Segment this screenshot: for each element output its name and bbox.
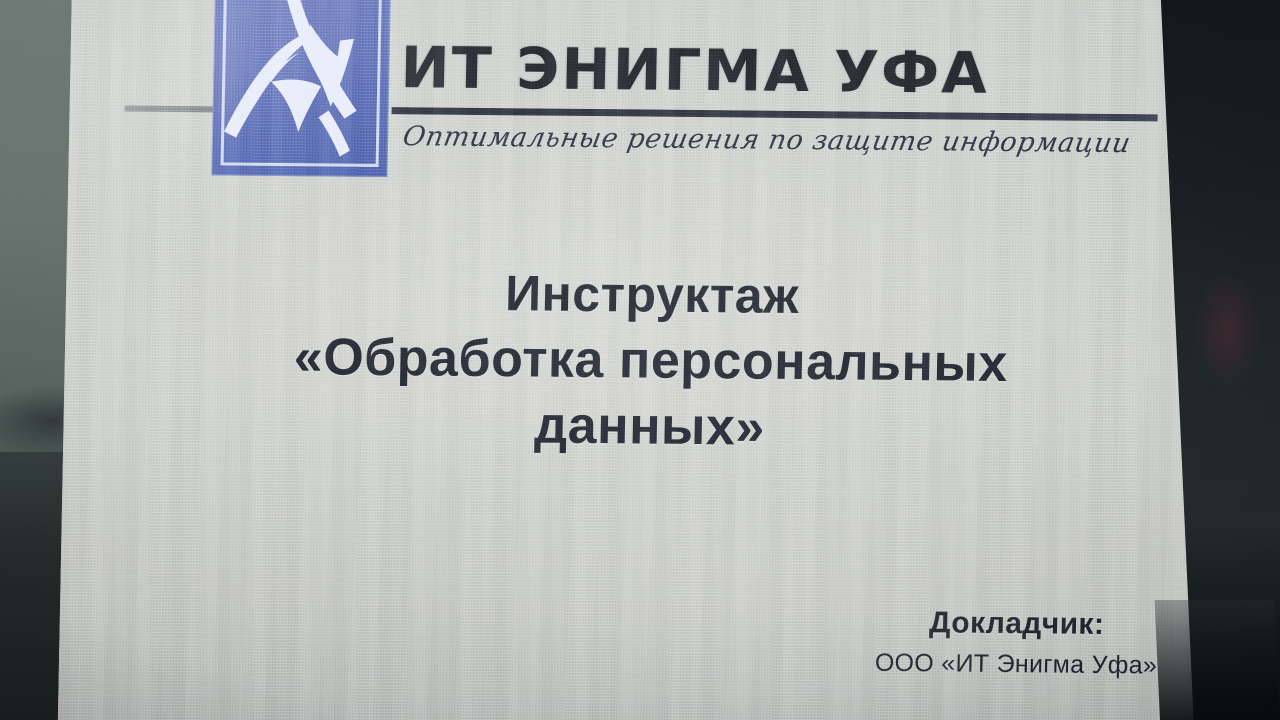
screen-vignette bbox=[58, 0, 1244, 720]
monitor-screen: ИТ ЭНИГМА УФА Оптимальные решения по защ… bbox=[58, 0, 1244, 720]
photograph-of-screen: ИТ ЭНИГМА УФА Оптимальные решения по защ… bbox=[0, 0, 1280, 720]
room-right-warm-glow bbox=[1192, 270, 1262, 390]
room-right-floor-shadow bbox=[1155, 600, 1280, 720]
